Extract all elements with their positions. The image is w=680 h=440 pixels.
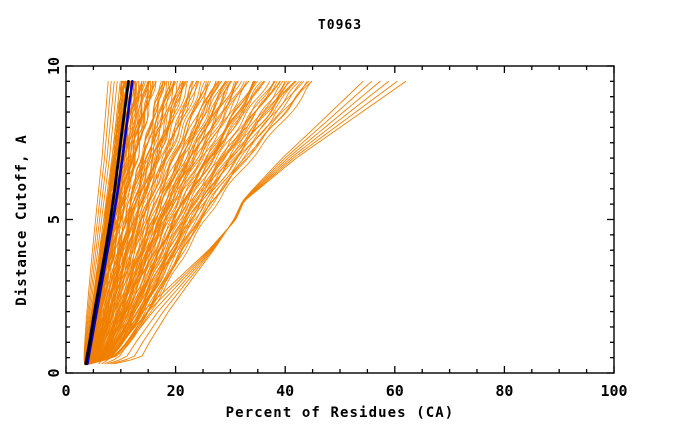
x-tick-label-0: 0: [61, 382, 70, 400]
x-tick-label-80: 80: [495, 382, 513, 400]
y-axis-title: Distance Cutoff, A: [14, 134, 30, 306]
x-tick-label-40: 40: [276, 382, 294, 400]
x-tick-label-100: 100: [600, 382, 627, 400]
plot-page: 0204060801000510Percent of Residues (CA)…: [0, 0, 680, 440]
y-tick-label-0: 0: [45, 368, 63, 377]
distance-cutoff-plot: 0204060801000510Percent of Residues (CA)…: [0, 0, 680, 440]
page-title: T0963: [318, 18, 362, 33]
y-tick-label-10: 10: [45, 57, 63, 75]
x-tick-label-20: 20: [167, 382, 185, 400]
y-tick-label-5: 5: [45, 215, 63, 224]
x-tick-label-60: 60: [386, 382, 404, 400]
x-axis-title: Percent of Residues (CA): [226, 405, 455, 421]
